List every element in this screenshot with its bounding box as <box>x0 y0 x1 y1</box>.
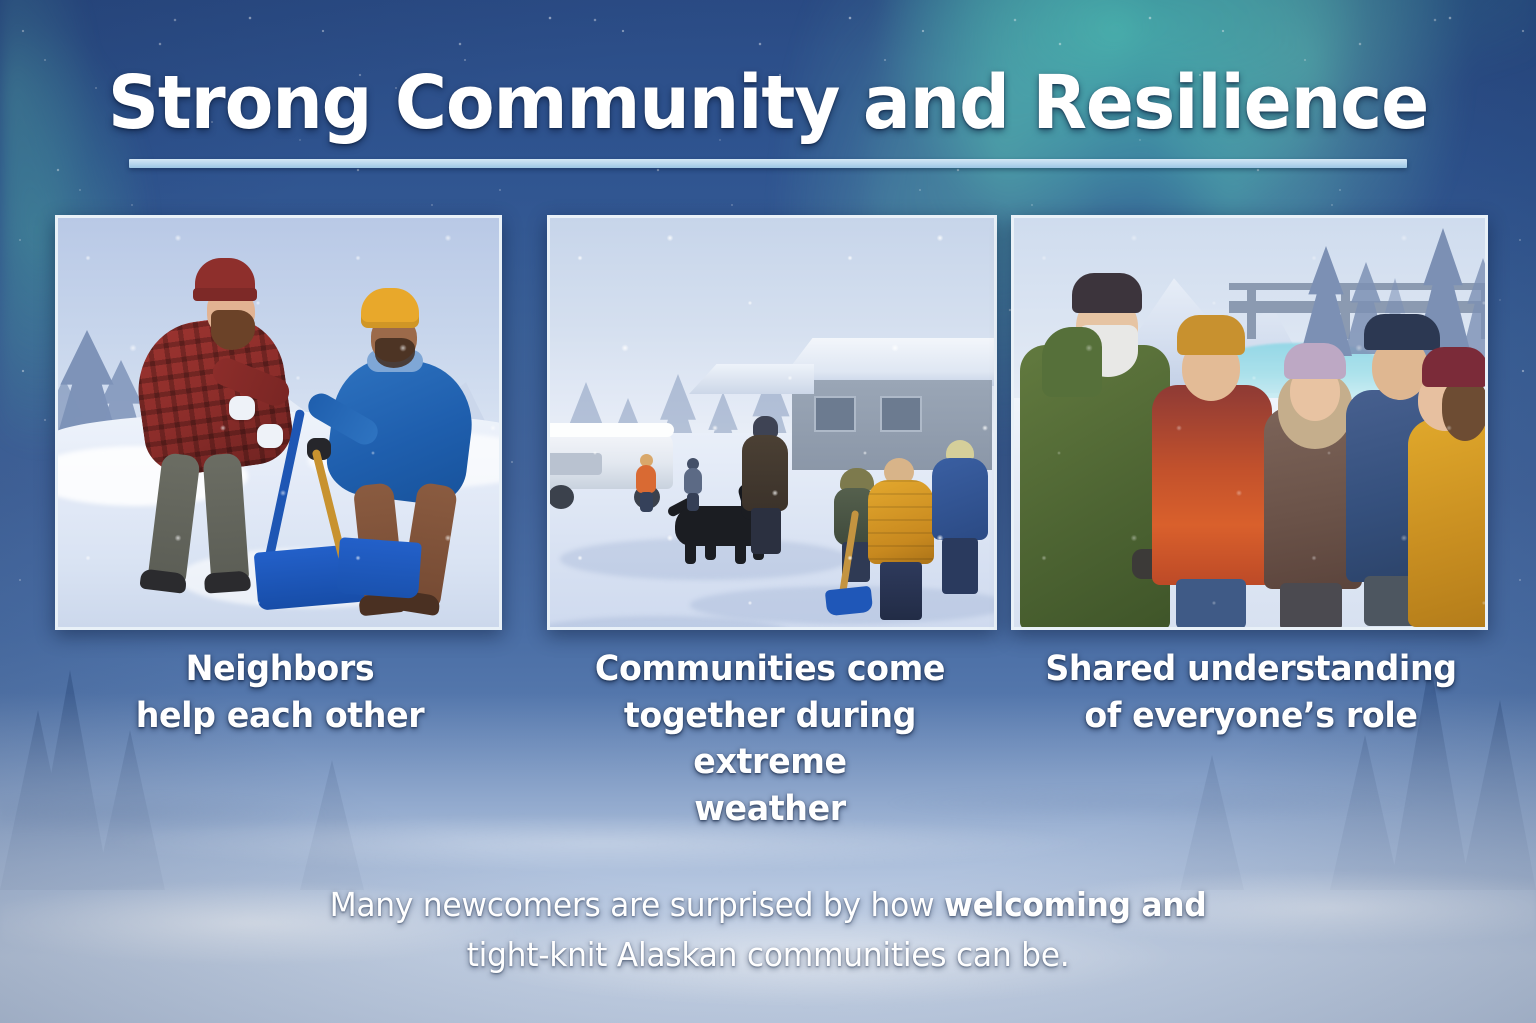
panel-neighbors-shoveling[interactable] <box>55 215 502 630</box>
title-underline-rule <box>129 159 1407 168</box>
footer-note: Many newcomers are surprised by how welc… <box>293 880 1243 980</box>
panel-row <box>0 215 1536 630</box>
title-block: Strong Community and Resilience <box>0 66 1536 140</box>
panel2-person-dark-coat <box>742 416 788 554</box>
boot <box>204 570 251 593</box>
illustration-group-portrait <box>1014 218 1485 627</box>
caption-line: help each other <box>52 693 508 740</box>
pants <box>1280 583 1342 630</box>
caption-line: Shared understanding <box>1024 646 1478 693</box>
red-plaid-leg-right <box>203 453 250 585</box>
body <box>742 435 788 511</box>
illustration-community-snow <box>550 218 994 627</box>
illustration-neighbors-shoveling <box>58 218 499 627</box>
white-glove-upper <box>229 396 255 420</box>
jeans <box>1176 579 1246 629</box>
panel2-person-orange-far <box>634 454 658 510</box>
boot <box>139 568 187 593</box>
slide-root: Strong Community and Resilience <box>0 0 1536 1023</box>
legs <box>687 493 699 511</box>
red-plaid-leg-left <box>147 452 201 586</box>
panel-group-portrait[interactable] <box>1011 215 1488 630</box>
legs <box>751 508 781 554</box>
footer-line-1: Many newcomers are surprised by how welc… <box>293 880 1243 930</box>
panel2-house-window-2 <box>880 396 922 432</box>
truck-wheel-left <box>548 485 574 509</box>
hair <box>1442 379 1488 441</box>
caption-panel-3: Shared understanding of everyone’s role <box>1024 646 1478 739</box>
truck-snow-cap <box>547 423 674 437</box>
caption-line: of everyone’s role <box>1024 693 1478 740</box>
caption-panel-1: Neighbors help each other <box>52 646 508 739</box>
gold-jacket <box>1408 419 1488 627</box>
panel2-person-gold-puffer <box>868 458 934 618</box>
lavender-beanie <box>1284 343 1346 379</box>
red-orange-jacket <box>1152 385 1272 585</box>
legs <box>880 562 922 620</box>
hat <box>753 416 778 437</box>
panel2-house-window-1 <box>814 396 856 432</box>
panel1-person-red-plaid <box>133 258 303 598</box>
panel2-shovel-blade <box>825 586 873 617</box>
burgundy-beanie <box>1422 347 1488 387</box>
footer-text-prefix: Many newcomers are surprised by how <box>330 885 944 924</box>
footer-line-2: tight-knit Alaskan communities can be. <box>293 930 1243 980</box>
mustard-beanie <box>1177 315 1245 355</box>
white-glove-lower <box>257 424 283 448</box>
panel3-person-red-jacket <box>1152 297 1272 627</box>
caption-row: Neighbors help each other Communities co… <box>0 646 1536 826</box>
caption-line: Communities come <box>547 646 994 693</box>
caption-line: weather <box>547 786 994 833</box>
yellow-beanie <box>361 288 419 328</box>
panel2-person-grey-far <box>682 458 704 510</box>
body <box>684 468 702 494</box>
hat <box>946 440 974 460</box>
blue-shovel-blade-2 <box>336 537 422 599</box>
panel2-person-blue-coat <box>932 440 988 592</box>
legs <box>942 538 978 594</box>
panel3-person-green-parka <box>1020 267 1170 627</box>
panel3-person-gold-jacket <box>1408 307 1488 627</box>
footer-text-bold: welcoming and <box>944 885 1206 924</box>
red-beanie-band <box>193 288 257 301</box>
dog-leg-2 <box>705 540 716 560</box>
dog-leg-1 <box>685 540 696 564</box>
blue-coat <box>932 458 988 540</box>
dark-beanie <box>1072 273 1142 313</box>
gold-puffer-jacket <box>868 480 934 564</box>
caption-line: together during extreme <box>547 693 994 786</box>
green-parka-hood <box>1042 327 1102 397</box>
body <box>636 465 656 493</box>
legs <box>640 492 653 512</box>
caption-line: Neighbors <box>52 646 508 693</box>
page-title: Strong Community and Resilience <box>31 66 1506 140</box>
panel-community-snow[interactable] <box>547 215 997 630</box>
caption-panel-2: Communities come together during extreme… <box>547 646 994 832</box>
truck-grill <box>547 453 602 475</box>
